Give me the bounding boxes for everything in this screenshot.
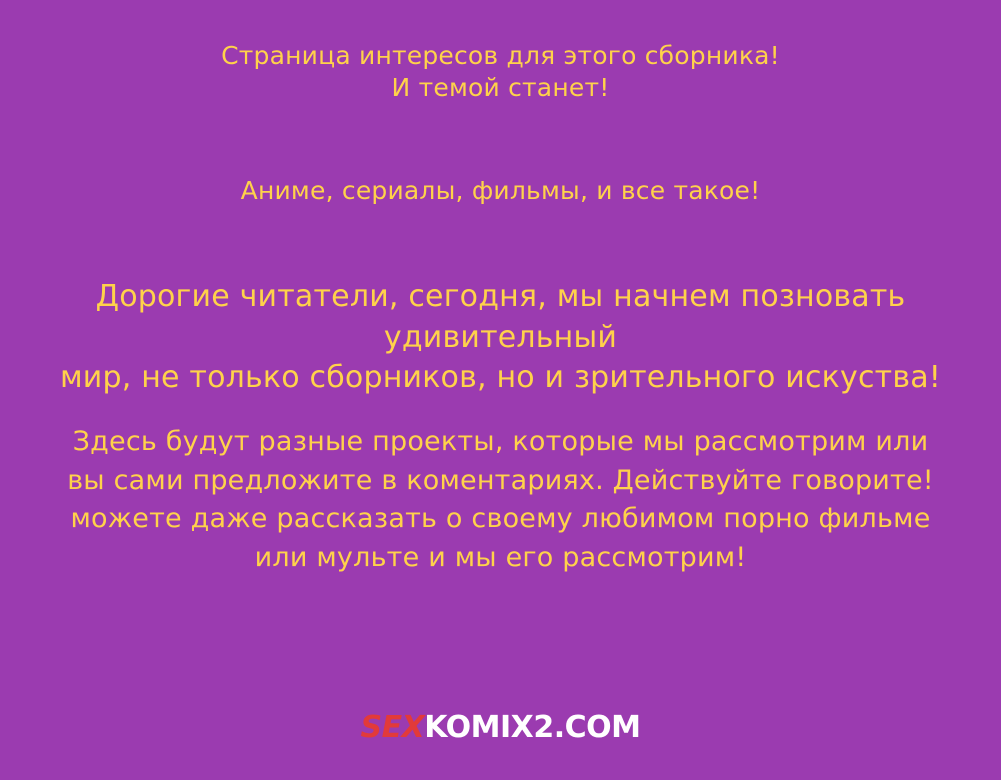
topics-text-block: Аниме, сериалы, фильмы, и все такое! [0,175,1001,207]
body-line-1: Здесь будут разные проекты, которые мы р… [60,423,941,462]
greeting-text-block: Дорогие читатели, сегодня, мы начнем поз… [0,277,1001,399]
intro-line-1: Страница интересов для этого сборника! [0,40,1001,72]
body-line-2: вы сами предложите в коментариях. Действ… [60,462,941,501]
greeting-line-2: мир, не только сборников, но и зрительно… [24,358,977,399]
watermark-part-1: SEX [361,710,425,745]
body-line-3: можете даже рассказать о своему любимом … [60,500,941,539]
site-watermark: SEXKOMIX2.COM [0,710,1001,745]
intro-line-2: И темой станет! [0,72,1001,104]
watermark-part-2: KOMIX2.COM [424,710,640,745]
comic-page: Страница интересов для этого сборника! И… [0,0,1001,780]
body-text-block: Здесь будут разные проекты, которые мы р… [0,423,1001,577]
body-line-4: или мульте и мы его рассмотрим! [60,539,941,578]
greeting-line-1: Дорогие читатели, сегодня, мы начнем поз… [24,277,977,358]
topics-line-1: Аниме, сериалы, фильмы, и все такое! [0,175,1001,207]
intro-text-block: Страница интересов для этого сборника! И… [0,40,1001,104]
